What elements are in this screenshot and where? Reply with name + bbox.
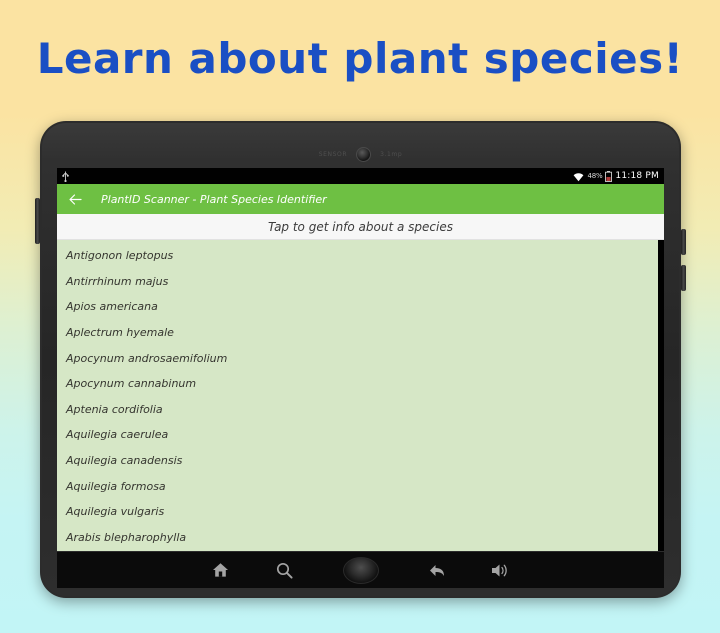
app-bar-title: PlantID Scanner - Plant Species Identifi…	[101, 193, 327, 206]
battery-icon	[605, 168, 612, 186]
android-navigation-bar	[57, 552, 664, 588]
list-item[interactable]: Aplectrum hyemale	[57, 320, 658, 346]
list-item[interactable]: Aquilegia vulgaris	[57, 499, 658, 525]
volume-down-button[interactable]	[681, 265, 686, 291]
app-bar: PlantID Scanner - Plant Species Identifi…	[57, 184, 664, 214]
list-item[interactable]: Aquilegia caerulea	[57, 422, 658, 448]
front-camera-icon	[356, 147, 371, 162]
sensor-label-right: 3.1mp	[380, 151, 402, 158]
tablet-device: SENSOR 3.1mp	[40, 121, 681, 598]
list-item[interactable]: Antigonon leptopus	[57, 243, 658, 269]
device-top-sensors: SENSOR 3.1mp	[40, 146, 681, 162]
volume-icon[interactable]	[491, 560, 511, 580]
page-title: Learn about plant species!	[0, 34, 720, 83]
list-item[interactable]: Apios americana	[57, 294, 658, 320]
poster-canvas: Learn about plant species! SENSOR 3.1mp	[0, 0, 720, 633]
back-arrow-icon[interactable]	[67, 191, 83, 207]
status-bar-left-icons	[62, 168, 573, 186]
back-icon[interactable]	[427, 560, 447, 580]
list-item[interactable]: Aptenia cordifolia	[57, 397, 658, 423]
list-item[interactable]: Aquilegia formosa	[57, 473, 658, 499]
status-bar-clock: 11:18 PM	[615, 171, 659, 181]
list-item[interactable]: Arabis blepharophylla	[57, 525, 658, 551]
power-button[interactable]	[35, 198, 40, 244]
status-bar-right-icons: 48% 11:18 PM	[573, 168, 659, 186]
species-list[interactable]: Antigonon leptopusAntirrhinum majusApios…	[57, 240, 664, 551]
wifi-icon	[573, 168, 584, 186]
list-item[interactable]: Antirrhinum majus	[57, 269, 658, 295]
volume-up-button[interactable]	[681, 229, 686, 255]
list-item[interactable]: Apocynum androsaemifolium	[57, 345, 658, 371]
battery-percent-label: 48%	[587, 172, 602, 180]
sensor-label-left: SENSOR	[319, 151, 347, 158]
list-item[interactable]: Apocynum cannabinum	[57, 371, 658, 397]
home-physical-button[interactable]	[343, 557, 379, 584]
home-icon[interactable]	[211, 560, 231, 580]
android-status-bar: 48% 11:18 PM	[57, 168, 664, 184]
list-item[interactable]: Aquilegia canadensis	[57, 448, 658, 474]
device-screen: 48% 11:18 PM	[57, 168, 664, 551]
list-header-text: Tap to get info about a species	[268, 220, 453, 234]
usb-icon	[62, 168, 69, 186]
list-header-bar: Tap to get info about a species	[57, 214, 664, 240]
search-icon[interactable]	[275, 560, 295, 580]
